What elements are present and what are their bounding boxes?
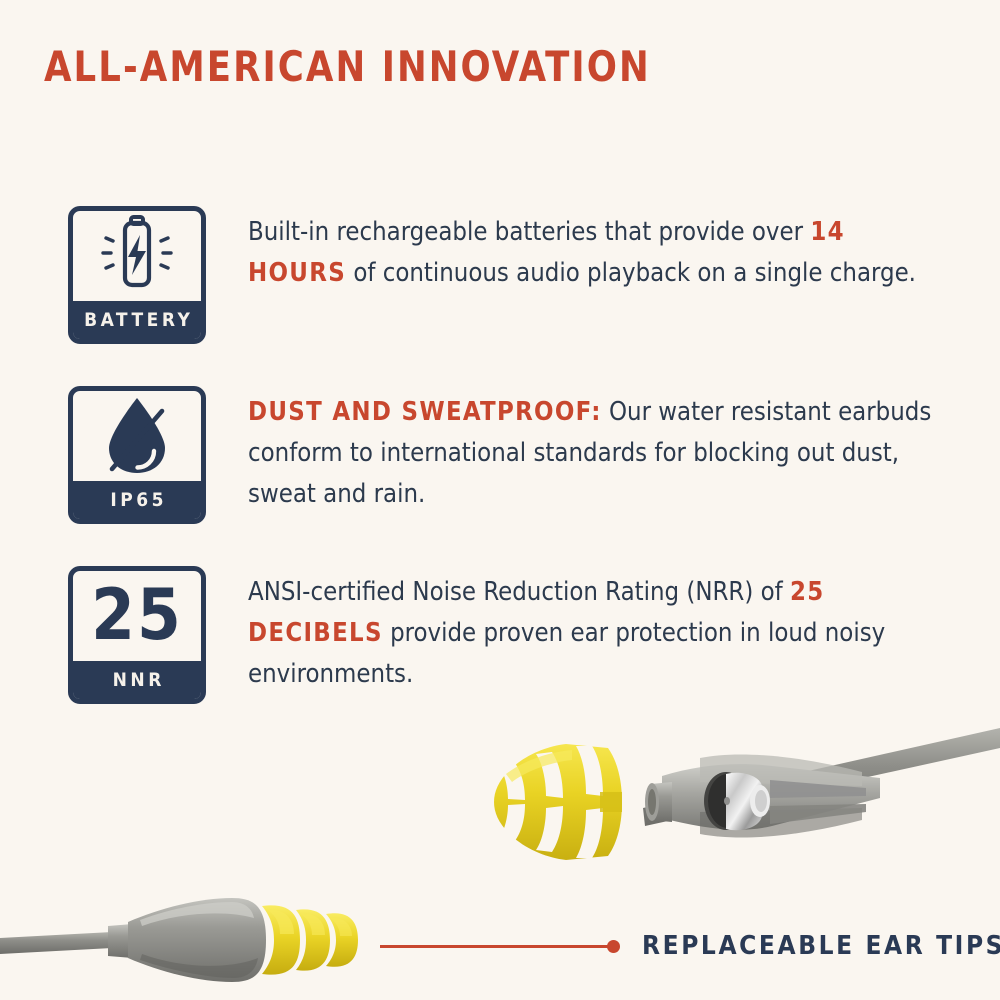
feature-text-ip65: DUST AND SWEATPROOF: Our water resistant… [248,386,948,515]
water-droplet-crossed-icon [92,393,182,479]
detached-ear-tip [494,744,622,860]
assembled-earbud [0,898,358,982]
feature-text-nnr: ANSI-certified Noise Reduction Rating (N… [248,566,948,695]
badge-icon-area: 25 [73,571,201,661]
ear-tip-bore [600,792,622,812]
page-title: ALL-AMERICAN INNOVATION [44,42,651,91]
badge-label-battery: BATTERY [73,301,201,339]
feature-row-nnr: 25 NNR ANSI-certified Noise Reduction Ra… [68,566,948,704]
callout-leader-line [380,945,610,948]
infographic-page: ALL-AMERICAN INNOVATION [0,0,1000,1000]
feature-text-battery: Built-in rechargeable batteries that pro… [248,206,948,294]
badge-number-value: 25 [91,580,183,650]
badge-label-nnr: NNR [73,661,201,699]
feature-row-battery: BATTERY Built-in rechargeable batteries … [68,206,948,344]
feature-text-segment: ANSI-certified Noise Reduction Rating (N… [248,577,790,607]
cutaway-earbud-assembly [643,728,1000,838]
callout-label: REPLACEABLE EAR TIPS [642,931,1000,961]
battery-charging-icon [89,213,185,299]
badge-icon-area [73,211,201,301]
badge-ip65: IP65 [68,386,206,524]
feature-text-accent: DUST AND SWEATPROOF: [248,397,602,427]
badge-icon-area [73,391,201,481]
badge-label-ip65: IP65 [73,481,201,519]
earbud-nozzle-bore [648,789,656,815]
badge-battery: BATTERY [68,206,206,344]
feature-text-segment: of continuous audio playback on a single… [346,258,916,288]
feature-text-segment: Built-in rechargeable batteries that pro… [248,217,810,247]
callout-replaceable-ear-tips: REPLACEABLE EAR TIPS [380,926,980,966]
badge-nnr: 25 NNR [68,566,206,704]
callout-dot-marker [607,940,620,953]
assembled-earbud-cable [0,932,112,954]
feature-row-ip65: IP65 DUST AND SWEATPROOF: Our water resi… [68,386,948,524]
